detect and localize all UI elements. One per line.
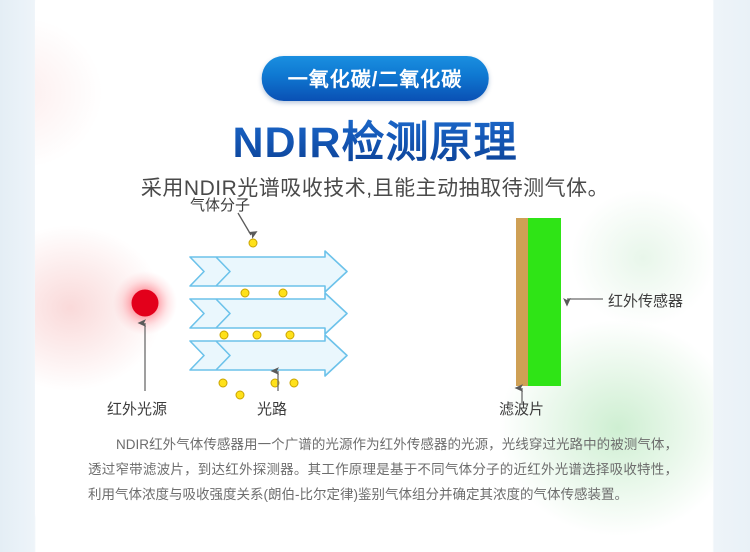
page-title: NDIR检测原理 [0,108,750,170]
filter-and-sensor [516,218,561,386]
label-gas-molecule: 气体分子 [190,194,250,215]
light-beam-arrows [190,251,347,376]
diagram-svg [35,195,715,430]
label-light-path: 光路 [257,398,287,419]
gas-type-badge: 一氧化碳/二氧化碳 [262,56,489,101]
label-ir-sensor: 红外传感器 [608,290,683,311]
description-paragraph: NDIR红外气体传感器用一个广谱的光源作为红外传感器的光源，光线穿过光路中的被测… [88,432,678,507]
label-filter: 滤波片 [499,398,544,419]
ndir-principle-diagram: 气体分子 红外传感器 红外光源 光路 滤波片 [35,195,715,430]
ir-sensor-block [528,218,561,386]
label-ir-source: 红外光源 [107,398,167,419]
gas-molecule-leader-line [238,213,251,235]
filter-plate [516,218,528,386]
